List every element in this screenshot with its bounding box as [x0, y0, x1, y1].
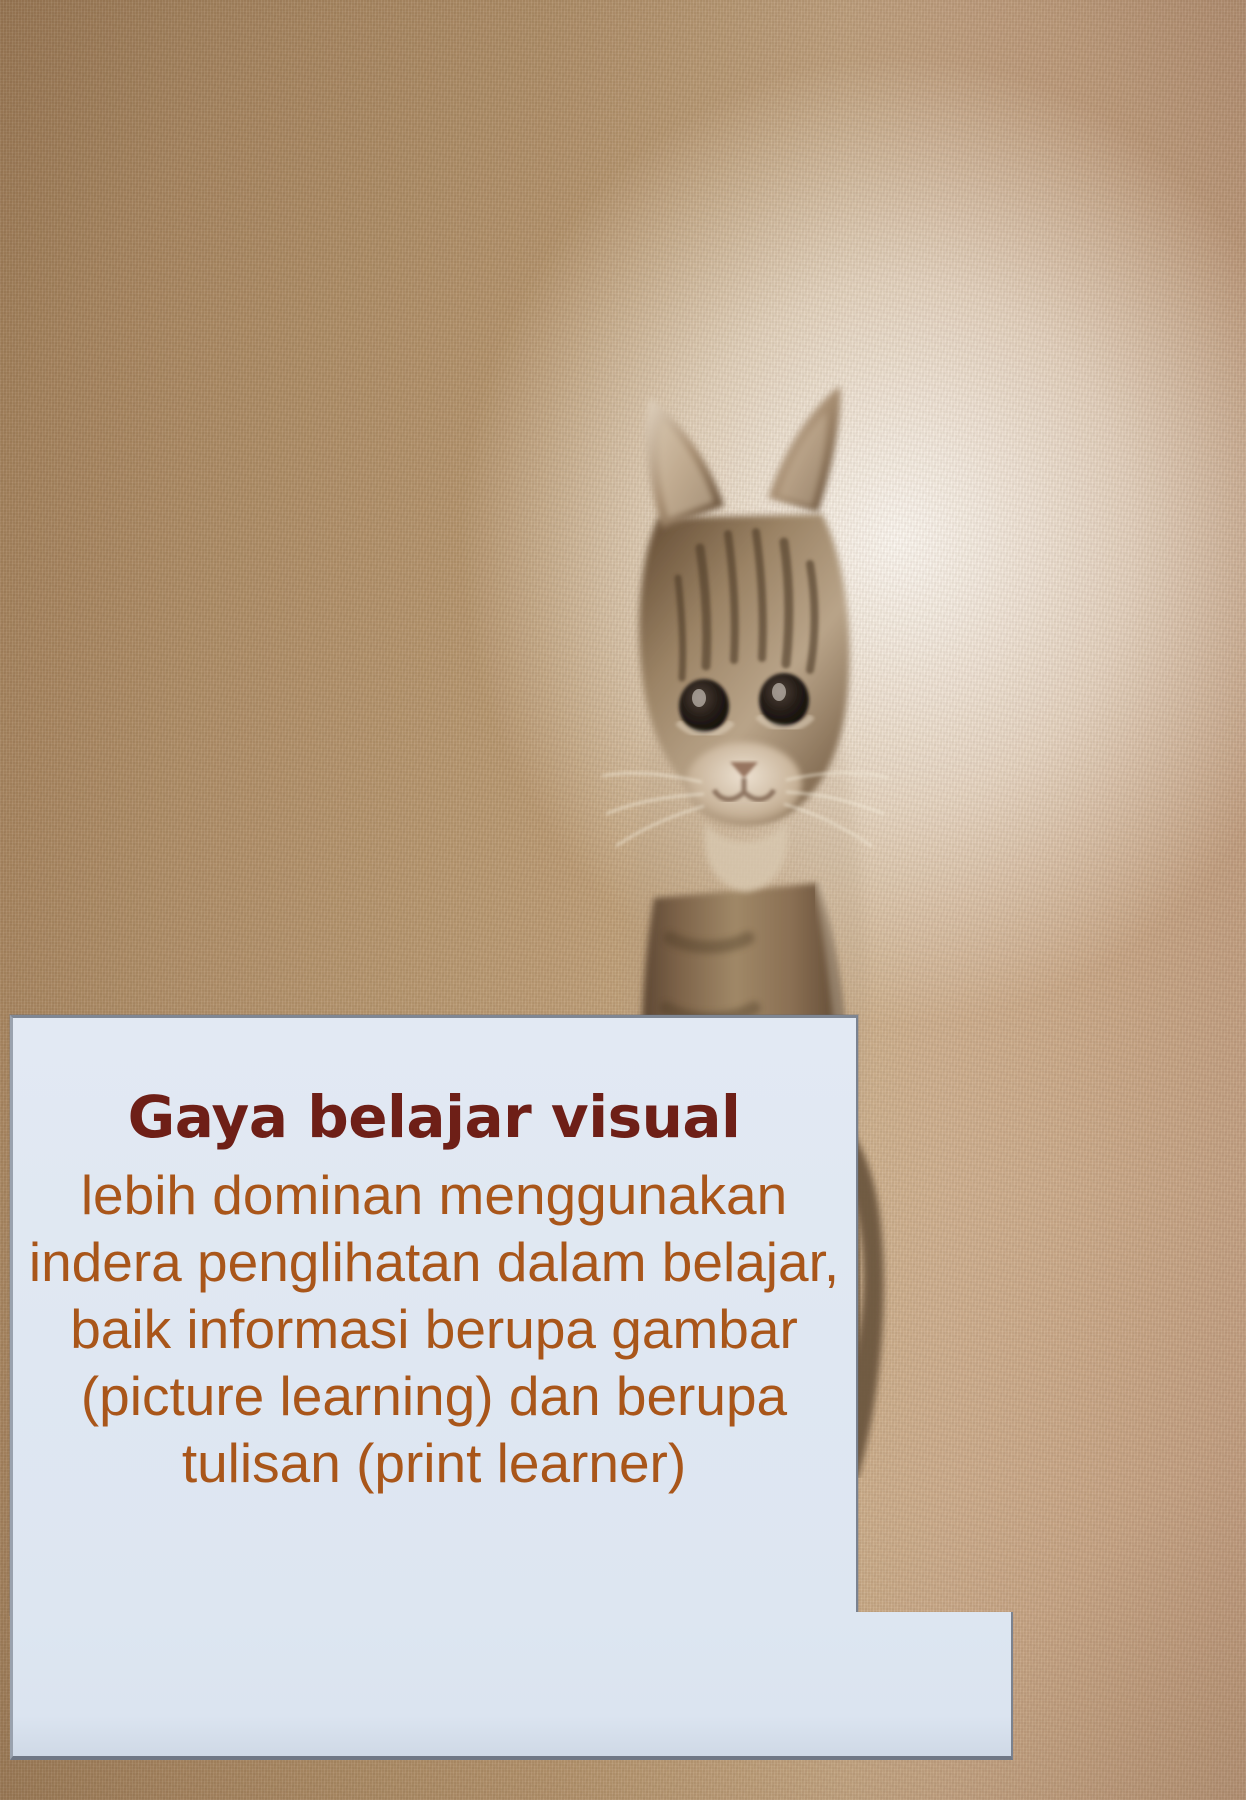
slide-canvas: Gaya belajar visual lebih dominan menggu…: [0, 0, 1246, 1800]
body-line: indera penglihatan dalam belajar,: [24, 1229, 844, 1296]
body-line: tulisan (print learner): [24, 1430, 844, 1497]
body-line: baik informasi berupa gambar: [24, 1296, 844, 1363]
body-line: (picture learning) dan berupa: [24, 1363, 844, 1430]
page-title: Gaya belajar visual: [24, 1015, 844, 1148]
text-panel-content: Gaya belajar visual lebih dominan menggu…: [10, 1015, 858, 1497]
body-line: lebih dominan menggunakan: [24, 1162, 844, 1229]
text-panel-extension: [10, 1612, 1013, 1760]
body-text: lebih dominan menggunakan indera penglih…: [24, 1162, 844, 1497]
